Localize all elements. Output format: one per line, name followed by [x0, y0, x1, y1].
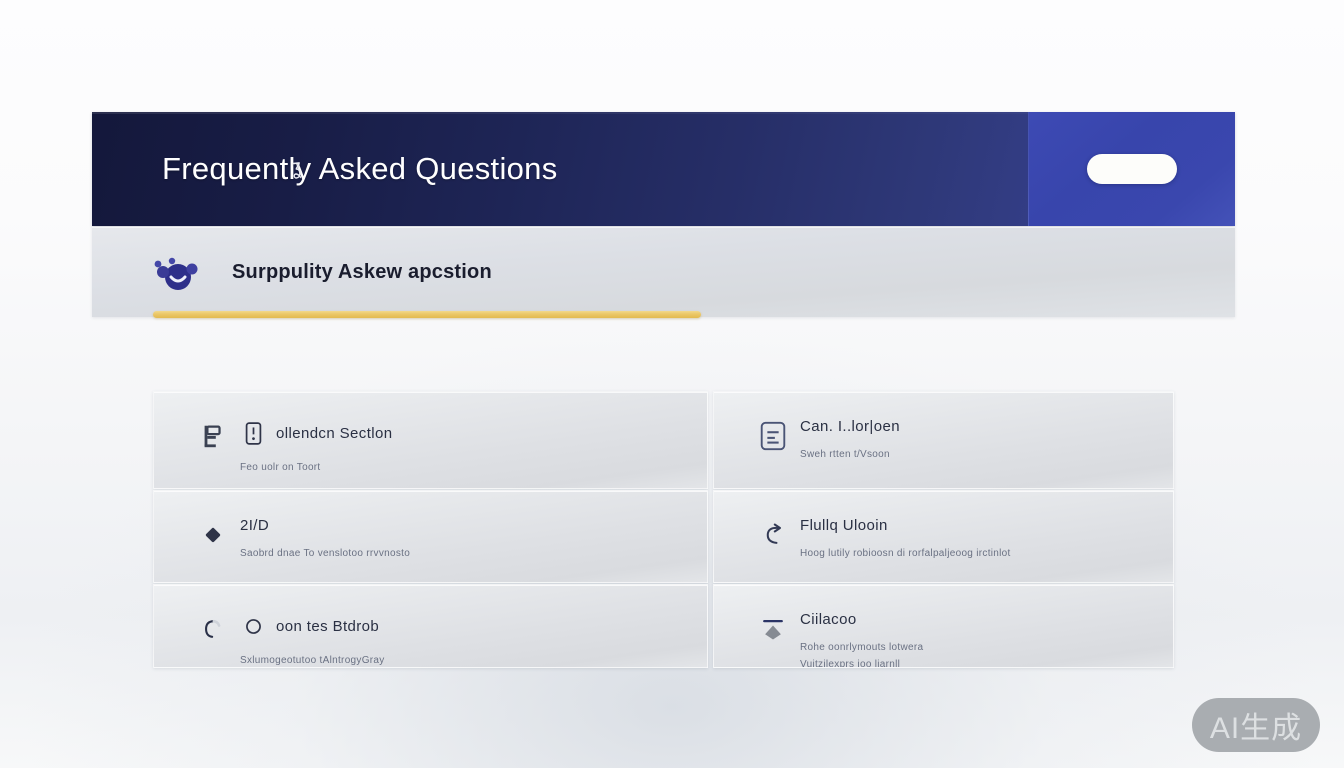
- card-title-row: Flullq Ulooin: [800, 517, 1173, 534]
- circle-outline-icon: [240, 611, 266, 641]
- faq-card[interactable]: oon tes Btdrob Sxlumogeotutoo tAlntrogyG…: [153, 584, 708, 668]
- ai-generated-watermark: AI生成: [1192, 698, 1320, 752]
- card-title: Ciilacoo: [800, 611, 857, 628]
- card-title: ollendcn Sectlon: [276, 425, 392, 442]
- flag-plug-icon: [190, 418, 236, 454]
- card-title: oon tes Btdrob: [276, 618, 379, 635]
- bubble-cluster-icon: [150, 250, 202, 294]
- page-title: Frequently Asked Questions ʓ: [162, 151, 558, 187]
- faq-card-grid: ollendcn Sectlon Feo uolr on Toort Can. …: [153, 391, 1174, 668]
- card-subtitle: Saobrd dnae To venslotoo rrvvnosto: [240, 547, 707, 562]
- card-subtitle: Hoog lutily robioosn di rorfalpaljeoog i…: [800, 547, 1173, 562]
- diamond-icon: [190, 517, 236, 553]
- subtitle-text: Surppulity Askew apcstion: [232, 261, 492, 284]
- card-subtitle: Sxlumogeotutoo tAlntrogyGray: [240, 654, 707, 668]
- card-body: 2I/D Saobrd dnae To venslotoo rrvvnosto: [240, 517, 707, 562]
- document-outline-icon: [240, 418, 266, 448]
- card-title: Can. I..lor|oen: [800, 418, 900, 435]
- card-title-row: Ciilacoo: [800, 611, 1173, 628]
- card-title: 2I/D: [240, 517, 269, 534]
- card-body: oon tes Btdrob Sxlumogeotutoo tAlntrogyG…: [240, 611, 707, 668]
- card-body: Flullq Ulooin Hoog lutily robioosn di ro…: [800, 517, 1173, 562]
- card-title-row: 2I/D: [240, 517, 707, 534]
- subtitle-bar: Surppulity Askew apcstion: [92, 227, 1235, 317]
- header-action-button[interactable]: [1087, 154, 1177, 184]
- header-action-panel: [1028, 112, 1235, 226]
- card-subtitle: Sweh rtten t/Vsoon: [800, 448, 1173, 463]
- card-subtitle-line2: Vuitzilexprs joo ljarnll: [800, 658, 1173, 669]
- circle-swirl-icon: [190, 611, 236, 647]
- document-lines-icon: [750, 418, 796, 454]
- accent-underline-bar: [153, 311, 701, 318]
- faq-card[interactable]: Flullq Ulooin Hoog lutily robioosn di ro…: [713, 490, 1174, 583]
- card-body: ollendcn Sectlon Feo uolr on Toort: [240, 418, 707, 476]
- card-subtitle: Rohe oonrlymouts lotwera: [800, 641, 1173, 656]
- header-banner: Frequently Asked Questions ʓ: [92, 112, 1235, 226]
- card-title-row: ollendcn Sectlon: [240, 418, 707, 448]
- card-title: Flullq Ulooin: [800, 517, 888, 534]
- card-body: Can. I..lor|oen Sweh rtten t/Vsoon: [800, 418, 1173, 463]
- card-title-row: oon tes Btdrob: [240, 611, 707, 641]
- swirl-arrow-icon: [750, 517, 796, 553]
- card-subtitle: Feo uolr on Toort: [240, 461, 707, 476]
- cone-bar-icon: [750, 611, 796, 647]
- faq-card[interactable]: ollendcn Sectlon Feo uolr on Toort: [153, 391, 708, 489]
- header-title-panel: Frequently Asked Questions ʓ: [92, 112, 1028, 226]
- faq-card[interactable]: Can. I..lor|oen Sweh rtten t/Vsoon: [713, 391, 1174, 489]
- card-title-row: Can. I..lor|oen: [800, 418, 1173, 435]
- page-title-text: Frequently Asked Questions: [162, 151, 558, 186]
- card-body: Ciilacoo Rohe oonrlymouts lotwera Vuitzi…: [800, 611, 1173, 668]
- faq-card[interactable]: Ciilacoo Rohe oonrlymouts lotwera Vuitzi…: [713, 584, 1174, 668]
- faq-card[interactable]: 2I/D Saobrd dnae To venslotoo rrvvnosto: [153, 490, 708, 583]
